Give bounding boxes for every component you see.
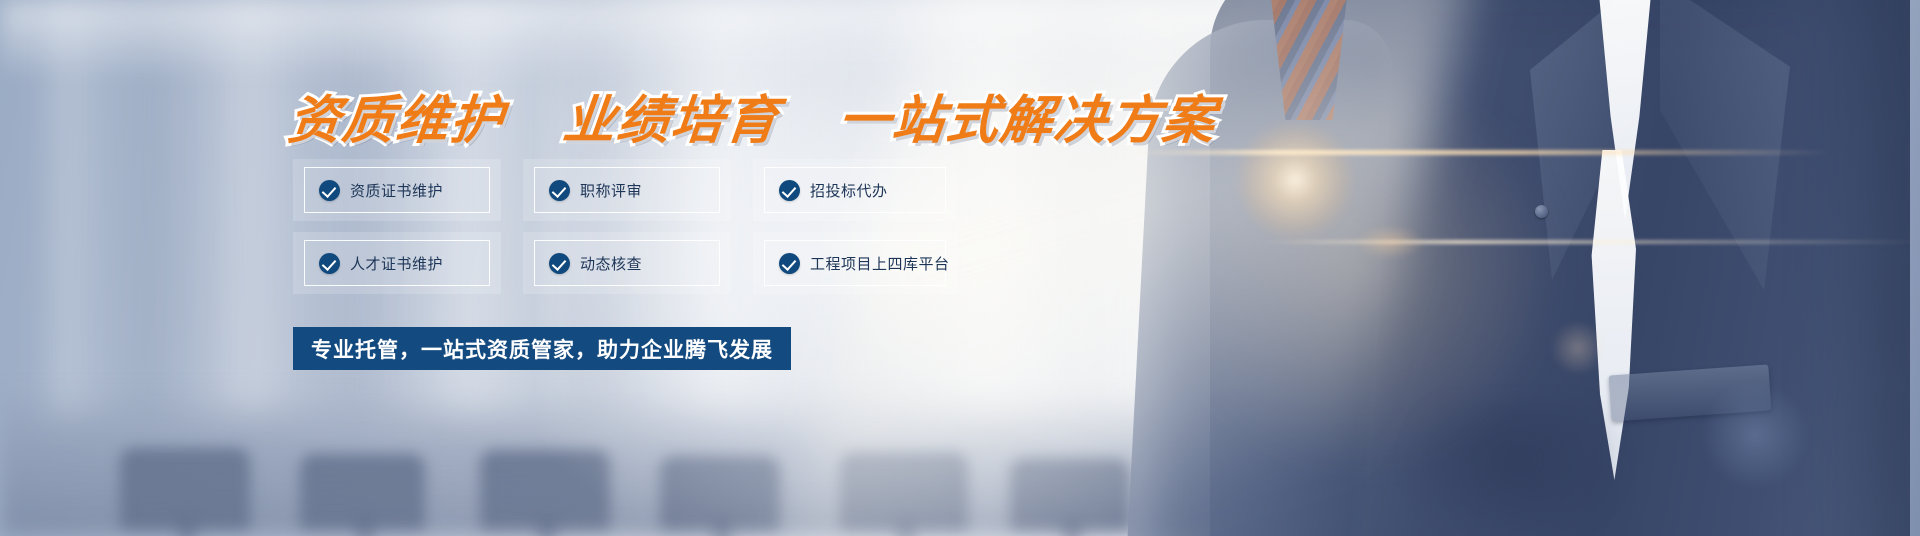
feature-inner-frame: 招投标代办 xyxy=(764,167,946,213)
check-circle-icon xyxy=(549,180,570,201)
check-circle-icon xyxy=(319,180,340,201)
feature-item-talent-certificate[interactable]: 人才证书维护 xyxy=(293,232,523,294)
feature-inner-frame: 资质证书维护 xyxy=(304,167,490,213)
headline-part-3: 一站式解决方案 xyxy=(835,92,1219,150)
headline-part-1: 资质维护 xyxy=(285,92,507,150)
feature-label: 人才证书维护 xyxy=(350,253,443,274)
check-circle-icon xyxy=(779,180,800,201)
check-circle-icon xyxy=(549,253,570,274)
tagline-bar: 专业托管，一站式资质管家，助力企业腾飞发展 xyxy=(293,327,791,370)
feature-inner-frame: 职称评审 xyxy=(534,167,720,213)
banner-content: 资质维护 业绩培育 一站式解决方案 资质证书维护 职称评审 xyxy=(0,0,1920,536)
feature-outer-frame: 工程项目上四库平台 xyxy=(753,232,957,294)
promo-banner: 资质维护 业绩培育 一站式解决方案 资质证书维护 职称评审 xyxy=(0,0,1920,536)
headline-part-2: 业绩培育 xyxy=(560,92,782,150)
banner-headline: 资质维护 业绩培育 一站式解决方案 xyxy=(285,78,1221,153)
feature-inner-frame: 动态核查 xyxy=(534,240,720,286)
tagline-text: 专业托管，一站式资质管家，助力企业腾飞发展 xyxy=(311,334,773,364)
feature-outer-frame: 招投标代办 xyxy=(753,159,957,221)
feature-label: 职称评审 xyxy=(580,180,642,201)
feature-outer-frame: 人才证书维护 xyxy=(293,232,501,294)
feature-outer-frame: 动态核查 xyxy=(523,232,731,294)
feature-label: 工程项目上四库平台 xyxy=(810,253,950,274)
check-circle-icon xyxy=(319,253,340,274)
check-circle-icon xyxy=(779,253,800,274)
feature-item-title-evaluation[interactable]: 职称评审 xyxy=(523,159,753,221)
feature-label: 资质证书维护 xyxy=(350,180,443,201)
feature-item-bidding-agency[interactable]: 招投标代办 xyxy=(753,159,983,221)
feature-label: 动态核查 xyxy=(580,253,642,274)
feature-outer-frame: 资质证书维护 xyxy=(293,159,501,221)
feature-item-dynamic-verification[interactable]: 动态核查 xyxy=(523,232,753,294)
feature-inner-frame: 工程项目上四库平台 xyxy=(764,240,946,286)
feature-inner-frame: 人才证书维护 xyxy=(304,240,490,286)
feature-grid: 资质证书维护 职称评审 招投标代办 xyxy=(293,159,983,294)
feature-item-qualification-certificate[interactable]: 资质证书维护 xyxy=(293,159,523,221)
feature-item-four-database-platform[interactable]: 工程项目上四库平台 xyxy=(753,232,983,294)
feature-outer-frame: 职称评审 xyxy=(523,159,731,221)
feature-label: 招投标代办 xyxy=(810,180,888,201)
